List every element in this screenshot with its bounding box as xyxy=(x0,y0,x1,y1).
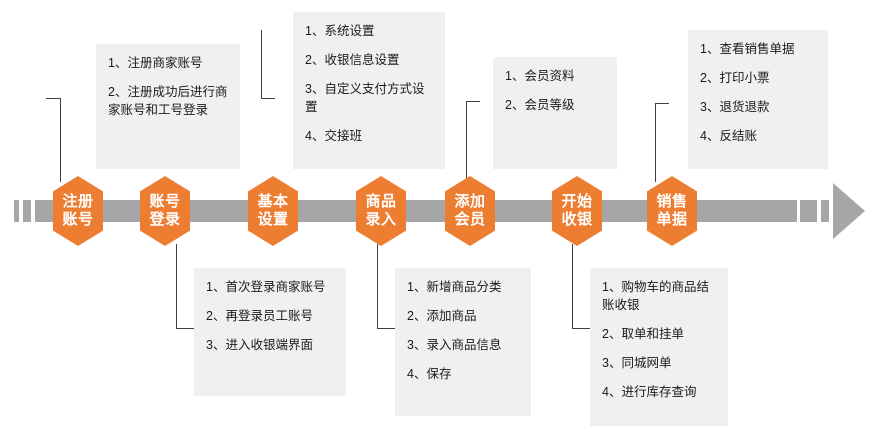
info-box-setup: 1、系统设置 2、收银信息设置 3、自定义支付方式设置 4、交接班 xyxy=(293,12,445,169)
timeline-dash-left-1 xyxy=(14,200,19,222)
node-label-line1: 商品 xyxy=(365,193,396,211)
info-box-cashier: 1、购物车的商品结账收银 2、取单和挂单 3、同城网单 4、进行库存查询 xyxy=(590,268,728,426)
info-item: 2、注册成功后进行商家账号和工号登录 xyxy=(108,83,228,119)
connector-login-h xyxy=(176,328,194,329)
connector-cashier-v xyxy=(572,244,573,328)
info-item: 4、保存 xyxy=(407,365,519,383)
node-login[interactable]: 账号 登录 xyxy=(140,176,190,246)
info-item: 3、自定义支付方式设置 xyxy=(305,80,433,116)
info-item: 1、新增商品分类 xyxy=(407,278,519,296)
info-item: 2、取单和挂单 xyxy=(602,325,716,343)
connector-product-h xyxy=(377,328,395,329)
flow-diagram: 1、注册商家账号 2、注册成功后进行商家账号和工号登录 1、系统设置 2、收银信… xyxy=(0,0,872,438)
node-label-line2: 设置 xyxy=(257,211,288,229)
node-cashier[interactable]: 开始 收银 xyxy=(552,176,602,246)
node-sales[interactable]: 销售 单据 xyxy=(647,176,697,246)
connector-register-v xyxy=(60,98,61,182)
info-item: 2、添加商品 xyxy=(407,307,519,325)
connector-setup-h xyxy=(261,98,275,99)
info-item: 1、购物车的商品结账收银 xyxy=(602,278,716,314)
connector-cashier-h xyxy=(572,328,590,329)
info-item: 1、查看销售单据 xyxy=(700,40,816,58)
connector-member-v xyxy=(466,101,467,182)
info-box-product: 1、新增商品分类 2、添加商品 3、录入商品信息 4、保存 xyxy=(395,268,531,416)
node-label-line2: 录入 xyxy=(365,211,396,229)
info-item: 1、系统设置 xyxy=(305,22,433,40)
connector-product-v xyxy=(377,244,378,328)
timeline-dash-right-2 xyxy=(821,200,829,222)
node-label-line2: 收银 xyxy=(561,211,592,229)
info-item: 4、交接班 xyxy=(305,127,433,145)
info-item: 2、会员等级 xyxy=(505,96,605,114)
info-item: 3、录入商品信息 xyxy=(407,336,519,354)
node-label-line1: 注册 xyxy=(62,193,93,211)
info-item: 2、收银信息设置 xyxy=(305,51,433,69)
node-label-line2: 账号 xyxy=(62,211,93,229)
info-box-register: 1、注册商家账号 2、注册成功后进行商家账号和工号登录 xyxy=(96,44,240,169)
info-item: 4、进行库存查询 xyxy=(602,383,716,401)
timeline-dash-left-3 xyxy=(35,200,55,222)
node-label-line2: 登录 xyxy=(149,211,180,229)
node-label-line1: 添加 xyxy=(454,193,485,211)
info-box-login: 1、首次登录商家账号 2、再登录员工账号 3、进入收银端界面 xyxy=(194,268,346,396)
info-item: 4、反结账 xyxy=(700,127,816,145)
info-item: 3、退货退款 xyxy=(700,98,816,116)
info-item: 3、进入收银端界面 xyxy=(206,336,334,354)
info-item: 3、同城网单 xyxy=(602,354,716,372)
node-register[interactable]: 注册 账号 xyxy=(53,176,103,246)
node-label-line2: 会员 xyxy=(454,211,485,229)
info-item: 1、会员资料 xyxy=(505,67,605,85)
info-box-member: 1、会员资料 2、会员等级 xyxy=(493,57,617,169)
connector-sales-h xyxy=(655,103,669,104)
node-label-line1: 账号 xyxy=(149,193,180,211)
info-item: 2、打印小票 xyxy=(700,69,816,87)
node-member[interactable]: 添加 会员 xyxy=(445,176,495,246)
timeline-arrowhead-icon xyxy=(833,183,865,239)
node-product[interactable]: 商品 录入 xyxy=(356,176,406,246)
timeline-dash-right-1 xyxy=(800,200,817,222)
info-item: 1、注册商家账号 xyxy=(108,54,228,72)
connector-setup-v xyxy=(261,30,262,98)
node-setup[interactable]: 基本 设置 xyxy=(248,176,298,246)
info-box-sales: 1、查看销售单据 2、打印小票 3、退货退款 4、反结账 xyxy=(688,30,828,169)
connector-login-v xyxy=(176,244,177,328)
node-label-line2: 单据 xyxy=(656,211,687,229)
info-item: 2、再登录员工账号 xyxy=(206,307,334,325)
timeline-dash-left-2 xyxy=(23,200,31,222)
node-label-line1: 基本 xyxy=(257,193,288,211)
connector-register-h xyxy=(46,98,60,99)
connector-sales-v xyxy=(655,103,656,182)
node-label-line1: 开始 xyxy=(561,193,592,211)
connector-member-h xyxy=(466,101,480,102)
info-item: 1、首次登录商家账号 xyxy=(206,278,334,296)
node-label-line1: 销售 xyxy=(656,193,687,211)
